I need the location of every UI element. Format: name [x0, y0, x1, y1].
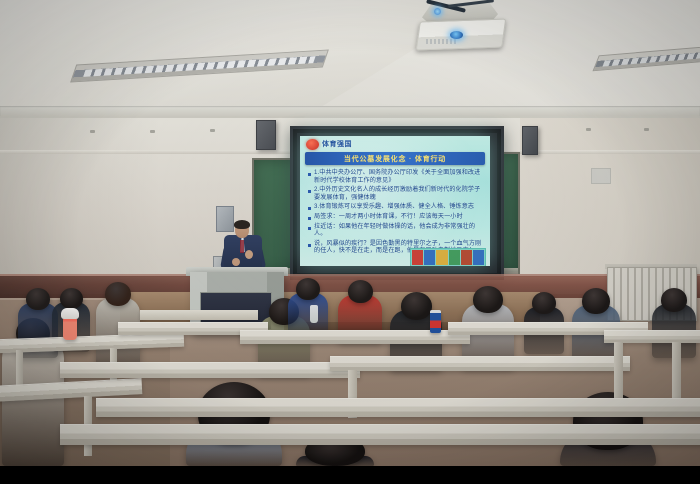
student-head: [60, 288, 83, 309]
red-paper-cup: [63, 318, 77, 340]
student-blue-shirt-back: [288, 278, 328, 336]
student-head: [348, 280, 373, 303]
classroom-photo: 体育强国 当代公墓发展化念 · 体育行动 1.中共中央办公厅、国务院办公厅印发《…: [0, 0, 700, 466]
desk-row-nearest: [60, 424, 700, 445]
desk-row-foreground: [96, 398, 700, 417]
desk-leg: [614, 342, 623, 398]
student-head: [105, 282, 131, 306]
water-bottle: [310, 305, 318, 323]
cup-lid: [61, 308, 79, 319]
student-head: [473, 286, 503, 313]
desk-row-front-right: [330, 356, 630, 371]
student-head: [401, 292, 432, 320]
student-head: [532, 292, 556, 314]
bench-left: [140, 310, 258, 320]
student-head: [296, 278, 320, 300]
desk-leg: [672, 342, 681, 402]
student-head: [582, 288, 610, 314]
student-head: [661, 288, 687, 312]
pepsi-soda-can: [430, 310, 441, 333]
student-head: [26, 288, 50, 310]
desk-row-front-center: [60, 362, 360, 378]
